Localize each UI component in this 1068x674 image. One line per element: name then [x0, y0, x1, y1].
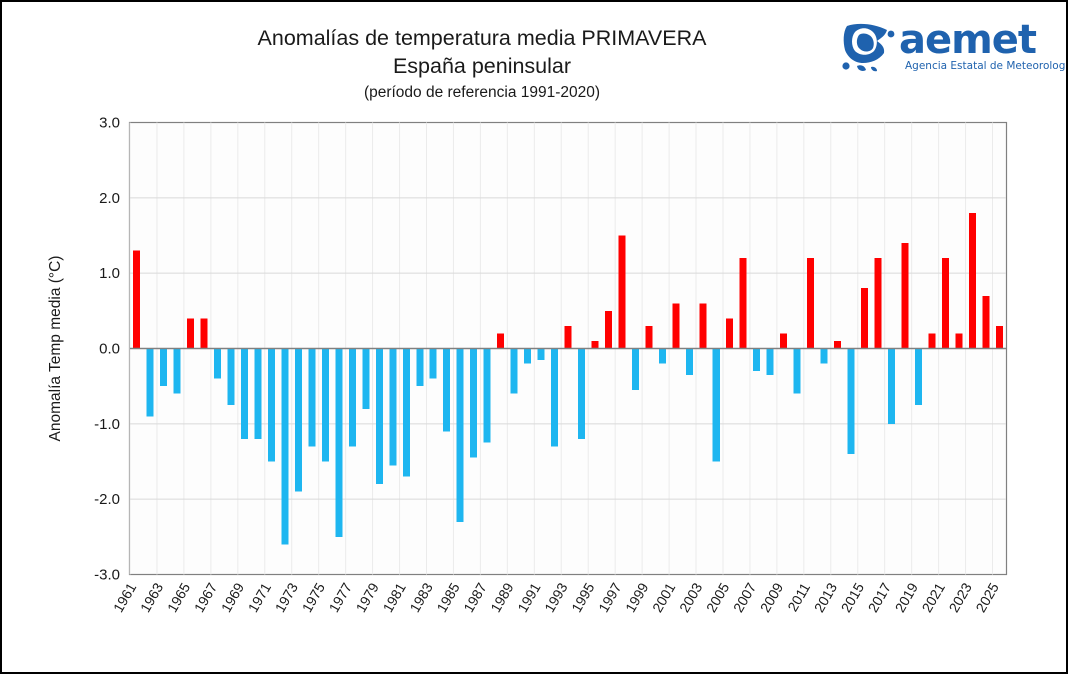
x-tick-label: 2001: [649, 580, 679, 615]
bar-2009: [780, 333, 787, 348]
bar-1997: [618, 236, 625, 349]
bar-2019: [915, 349, 922, 406]
x-tick-label: 1985: [433, 580, 463, 615]
y-tick-label: 1.0: [99, 265, 120, 282]
y-tick-label: -3.0: [94, 567, 120, 584]
x-tick-label: 1979: [352, 580, 382, 615]
x-tick-label: 1973: [272, 580, 302, 615]
x-tick-label: 1983: [406, 580, 436, 615]
bar-1971: [268, 349, 275, 462]
x-tick-label: 1967: [191, 580, 221, 615]
bar-1987: [484, 349, 491, 443]
bar-1977: [349, 349, 356, 447]
bar-2022: [955, 333, 962, 348]
x-tick-label: 2009: [757, 580, 787, 615]
bar-1961: [133, 251, 140, 349]
bar-2021: [942, 258, 949, 348]
bar-1973: [295, 349, 302, 492]
x-tick-label: 2015: [838, 580, 868, 615]
x-tick-label: 1991: [514, 580, 544, 615]
bar-2002: [686, 349, 693, 375]
x-tick-label: 2003: [676, 580, 706, 615]
x-tick-label: 1993: [541, 580, 571, 615]
bar-1972: [281, 349, 288, 545]
bar-1999: [645, 326, 652, 349]
bar-2025: [996, 326, 1003, 349]
bar-1994: [578, 349, 585, 439]
bar-1978: [362, 349, 369, 409]
x-tick-label: 1997: [595, 580, 625, 615]
y-tick-label: 3.0: [99, 115, 120, 132]
bar-2020: [928, 333, 935, 348]
bar-2024: [982, 296, 989, 349]
bar-1998: [632, 349, 639, 390]
bar-1992: [551, 349, 558, 447]
bar-2001: [672, 303, 679, 348]
bar-1996: [605, 311, 612, 349]
x-tick-label: 2025: [972, 580, 1002, 615]
bar-1993: [565, 326, 572, 349]
bar-2005: [726, 318, 733, 348]
x-tick-label: 2021: [919, 580, 949, 615]
x-tick-label: 2023: [945, 580, 975, 615]
bar-2004: [713, 349, 720, 462]
bar-2014: [848, 349, 855, 454]
x-tick-label: 1961: [110, 580, 140, 615]
y-tick-label: -2.0: [94, 491, 120, 508]
bar-1988: [497, 333, 504, 348]
bar-1979: [376, 349, 383, 485]
bar-1984: [443, 349, 450, 432]
bar-2015: [861, 288, 868, 348]
y-axis-label: Anomalía Temp media (°C): [47, 256, 64, 442]
bar-1976: [335, 349, 342, 537]
x-tick-label: 1975: [299, 580, 329, 615]
y-tick-label: 2.0: [99, 190, 120, 207]
chart-figure: Anomalías de temperatura media PRIMAVERA…: [0, 0, 1068, 674]
x-tick-label: 2007: [730, 580, 760, 615]
bar-1983: [430, 349, 437, 379]
x-tick-label: 1999: [622, 580, 652, 615]
bar-1965: [187, 318, 194, 348]
bar-1966: [201, 318, 208, 348]
bar-2018: [901, 243, 908, 348]
x-tick-label: 1965: [164, 580, 194, 615]
bar-1985: [457, 349, 464, 522]
bar-2010: [794, 349, 801, 394]
x-tick-label: 1977: [326, 580, 356, 615]
x-tick-label: 1963: [137, 580, 167, 615]
bar-2003: [699, 303, 706, 348]
y-tick-label: 0.0: [99, 341, 120, 358]
bar-2008: [767, 349, 774, 375]
bar-2000: [659, 349, 666, 364]
bar-2017: [888, 349, 895, 424]
bar-1967: [214, 349, 221, 379]
bar-2013: [834, 341, 841, 349]
x-tick-label: 1969: [218, 580, 248, 615]
x-tick-label: 2013: [811, 580, 841, 615]
x-tick-label: 1981: [379, 580, 409, 615]
bar-1975: [322, 349, 329, 462]
bar-2016: [874, 258, 881, 348]
bar-1989: [511, 349, 518, 394]
x-tick-label: 2005: [703, 580, 733, 615]
bar-1986: [470, 349, 477, 458]
bar-1990: [524, 349, 531, 364]
bar-1968: [228, 349, 235, 406]
x-tick-label: 2019: [892, 580, 922, 615]
bar-1981: [403, 349, 410, 477]
bar-1962: [147, 349, 154, 417]
bar-1974: [308, 349, 315, 447]
x-axis-tick-labels: 1961196319651967196919711973197519771979…: [110, 580, 1002, 615]
bar-1969: [241, 349, 248, 439]
x-tick-label: 1989: [487, 580, 517, 615]
bar-1964: [174, 349, 181, 394]
x-tick-label: 2017: [865, 580, 895, 615]
bar-1991: [538, 349, 545, 360]
bar-2007: [753, 349, 760, 372]
x-tick-label: 1971: [245, 580, 275, 615]
x-tick-label: 1995: [568, 580, 598, 615]
bar-2023: [969, 213, 976, 349]
bar-1980: [389, 349, 396, 466]
bar-2006: [740, 258, 747, 348]
bar-1995: [591, 341, 598, 349]
x-tick-label: 1987: [460, 580, 490, 615]
bar-2012: [821, 349, 828, 364]
y-axis-tick-labels: 3.02.01.00.0-1.0-2.0-3.0: [94, 115, 120, 584]
y-tick-label: -1.0: [94, 416, 120, 433]
bar-1970: [255, 349, 262, 439]
anomaly-bar-chart: 3.02.01.00.0-1.0-2.0-3.0 196119631965196…: [2, 2, 1068, 674]
bar-1982: [416, 349, 423, 387]
x-tick-label: 2011: [784, 580, 813, 614]
bar-1963: [160, 349, 167, 387]
bar-2011: [807, 258, 814, 348]
